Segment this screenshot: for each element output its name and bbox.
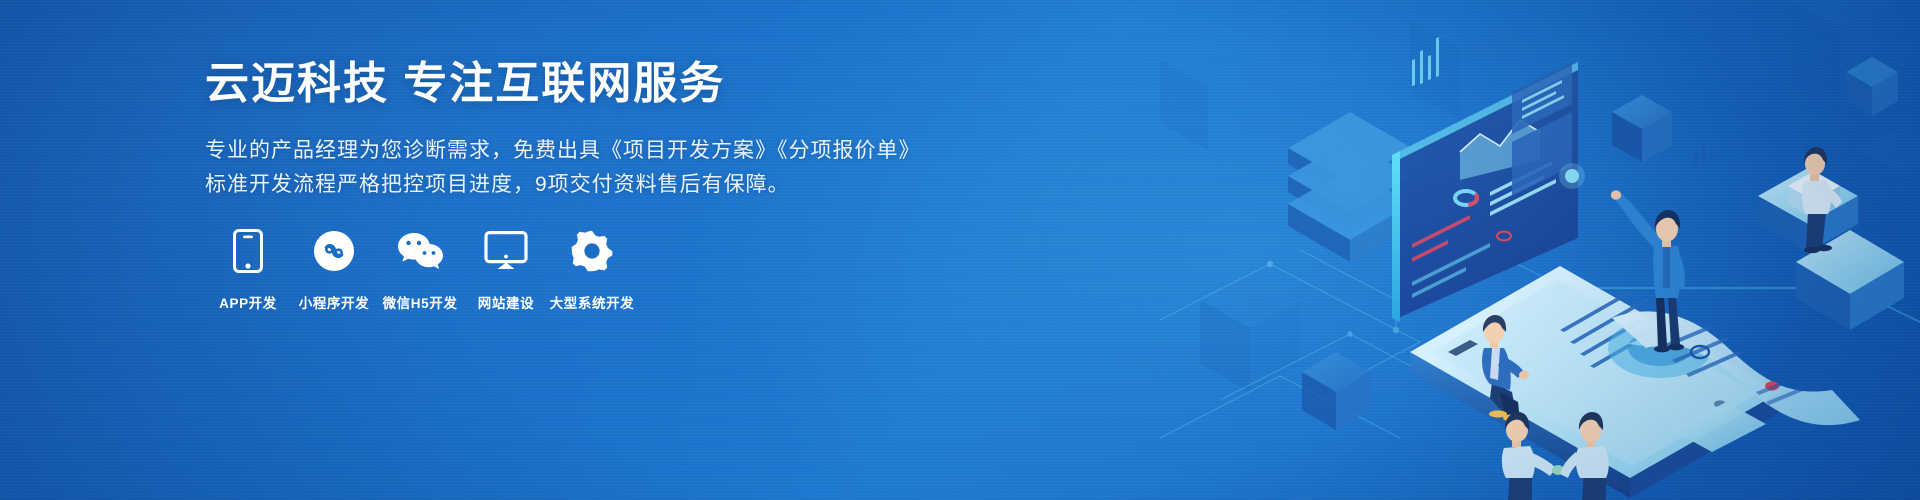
mini-program-icon <box>313 228 355 274</box>
smartphone-icon <box>233 228 263 274</box>
service-label: 小程序开发 <box>299 292 370 312</box>
service-item-app[interactable]: APP开发 <box>205 228 291 312</box>
page-title: 云迈科技 专注互联网服务 <box>205 62 925 106</box>
monitor-icon <box>484 228 528 274</box>
service-label: 微信H5开发 <box>383 292 458 312</box>
subtitle-block: 专业的产品经理为您诊断需求，免费出具《项目开发方案》《分项报价单》 标准开发流程… <box>205 134 925 202</box>
service-item-mini-program[interactable]: 小程序开发 <box>291 228 377 312</box>
illustration-tech-isometric <box>1160 0 1920 500</box>
gear-icon <box>571 228 613 274</box>
subtitle-line-1: 专业的产品经理为您诊断需求，免费出具《项目开发方案》《分项报价单》 <box>205 134 925 168</box>
subtitle-line-2: 标准开发流程严格把控项目进度，9项交付资料售后有保障。 <box>205 168 925 202</box>
service-label: 网站建设 <box>478 292 534 312</box>
service-label: APP开发 <box>219 292 277 312</box>
hero-banner: 云迈科技 专注互联网服务 专业的产品经理为您诊断需求，免费出具《项目开发方案》《… <box>0 0 1920 500</box>
service-item-wechat-h5[interactable]: 微信H5开发 <box>377 228 463 312</box>
wechat-icon <box>396 228 444 274</box>
service-list: APP开发 小程序开发 <box>205 228 635 312</box>
figure-podium <box>1802 147 1842 253</box>
service-label: 大型系统开发 <box>550 292 635 312</box>
service-item-website[interactable]: 网站建设 <box>463 228 549 312</box>
banner-copy: 云迈科技 专注互联网服务 专业的产品经理为您诊断需求，免费出具《项目开发方案》《… <box>205 62 925 202</box>
service-item-large-system[interactable]: 大型系统开发 <box>549 228 635 312</box>
